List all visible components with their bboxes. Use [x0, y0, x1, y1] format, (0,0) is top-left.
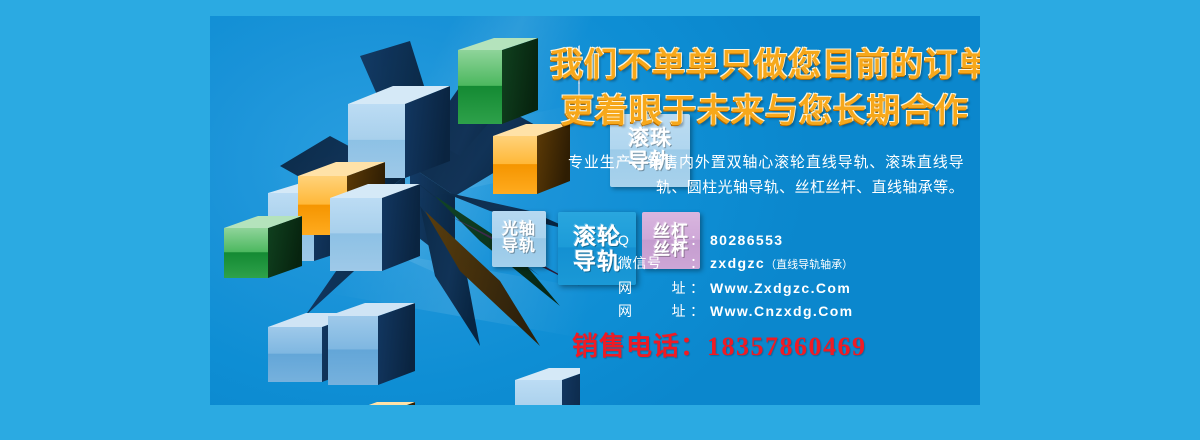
contact-key-qq-char1: Q: [618, 229, 629, 252]
contact-value-website-2[interactable]: Www.Cnzxdg.Com: [710, 300, 854, 323]
sales-phone-label: 销售电话：: [572, 331, 707, 361]
contact-key-qq: Q Q: [618, 229, 690, 252]
sales-phone-number[interactable]: 18357860469: [707, 332, 867, 361]
contact-colon: ：: [690, 252, 710, 275]
contact-key-website: 网 址: [618, 277, 690, 300]
headline-line-2: 更着眼于未来与您长期合作: [550, 88, 980, 134]
product-label-line2: 导轨: [502, 239, 536, 256]
banner-text-column: 我们不单单只做您目前的订单 更着眼于未来与您长期合作 专业生产、销售内外置双轴心…: [550, 16, 980, 405]
cube-orange-lower: [347, 402, 415, 405]
contact-value-wechat[interactable]: zxdgzc: [710, 252, 765, 275]
product-label-line1: 光轴: [502, 222, 536, 239]
product-label-guangzhou-daogui[interactable]: 光轴 导轨: [492, 211, 546, 267]
contact-row-website-2: 网 址 ： Www.Cnzxdg.Com: [618, 300, 978, 323]
contact-key-wechat: 微信号: [618, 252, 690, 275]
contact-colon: ：: [690, 277, 710, 300]
cube-blue-mid: [330, 184, 420, 271]
contact-key-website-char1: 网: [618, 300, 633, 323]
contact-row-website-1: 网 址 ： Www.Zxdgzc.Com: [618, 277, 978, 300]
headline: 我们不单单只做您目前的订单 更着眼于未来与您长期合作: [550, 42, 980, 134]
headline-line-1: 我们不单单只做您目前的订单: [550, 42, 980, 88]
cube-green-top: [458, 38, 538, 124]
contact-key-website-char1: 网: [618, 277, 633, 300]
contact-colon: ：: [690, 229, 710, 252]
contact-key-website-char2: 址: [672, 277, 687, 300]
contact-key-website-char2: 址: [672, 300, 687, 323]
contact-value-website-1[interactable]: Www.Zxdgzc.Com: [710, 277, 851, 300]
description-text: 专业生产、销售内外置双轴心滚轮直线导轨、滚珠直线导轨、圆柱光轴导轨、丝杠丝杆、直…: [568, 150, 964, 200]
promo-banner: 滚珠 导轨 光轴 导轨 滚轮 导轨 丝杠 丝杆 我们不单单只做您目前的订单 更着…: [210, 16, 980, 405]
page-root: 滚珠 导轨 光轴 导轨 滚轮 导轨 丝杠 丝杆 我们不单单只做您目前的订单 更着…: [0, 0, 1200, 440]
contact-row-qq: Q Q ： 80286553: [618, 229, 978, 252]
contact-row-wechat: 微信号 ： zxdgzc （直线导轨轴承）: [618, 252, 978, 277]
sales-phone: 销售电话：18357860469: [572, 326, 972, 363]
contact-key-qq-char2: Q: [675, 229, 686, 252]
contact-key-website: 网 址: [618, 300, 690, 323]
contact-colon: ：: [690, 300, 710, 323]
cube-green-left-small: [224, 216, 302, 278]
contact-value-qq[interactable]: 80286553: [710, 229, 784, 252]
cube-blue-center-left: [328, 303, 415, 385]
contact-info-block: Q Q ： 80286553 微信号 ： zxdgzc （直线导轨轴承） 网 址: [618, 229, 978, 323]
contact-note-wechat: （直线导轨轴承）: [765, 254, 853, 277]
